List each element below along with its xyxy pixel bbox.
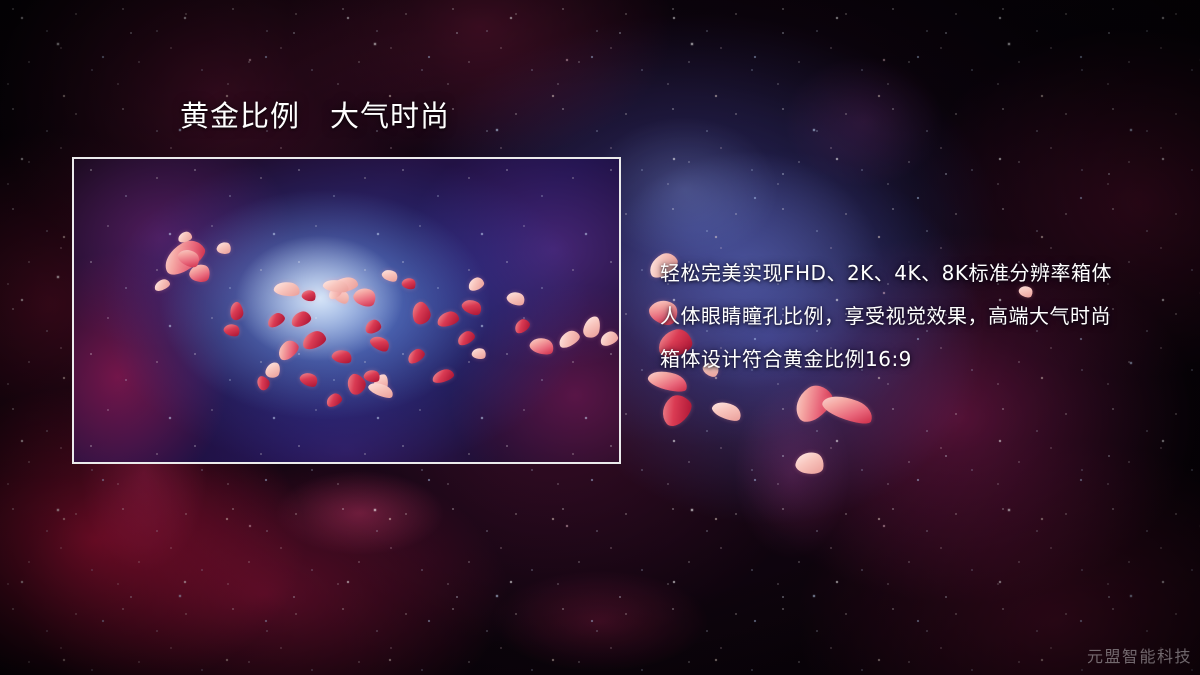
body-copy-line: 人体眼睛瞳孔比例，享受视觉效果，高端大气时尚 — [660, 295, 1160, 338]
body-copy-line: 轻松完美实现FHD、2K、4K、8K标准分辨率箱体 — [660, 252, 1160, 295]
presentation-slide: 黄金比例 大气时尚 轻松完美实现FHD、2K、4K、8K标准分辨率箱体 人体眼睛… — [0, 0, 1200, 675]
preview-image-frame — [72, 157, 621, 464]
body-copy-block: 轻松完美实现FHD、2K、4K、8K标准分辨率箱体 人体眼睛瞳孔比例，享受视觉效… — [660, 252, 1160, 381]
body-copy-line: 箱体设计符合黄金比例16:9 — [660, 338, 1160, 381]
preview-starfield-icon — [74, 159, 619, 462]
page-title: 黄金比例 大气时尚 — [180, 100, 450, 133]
watermark: 元盟智能科技 — [1087, 643, 1192, 667]
